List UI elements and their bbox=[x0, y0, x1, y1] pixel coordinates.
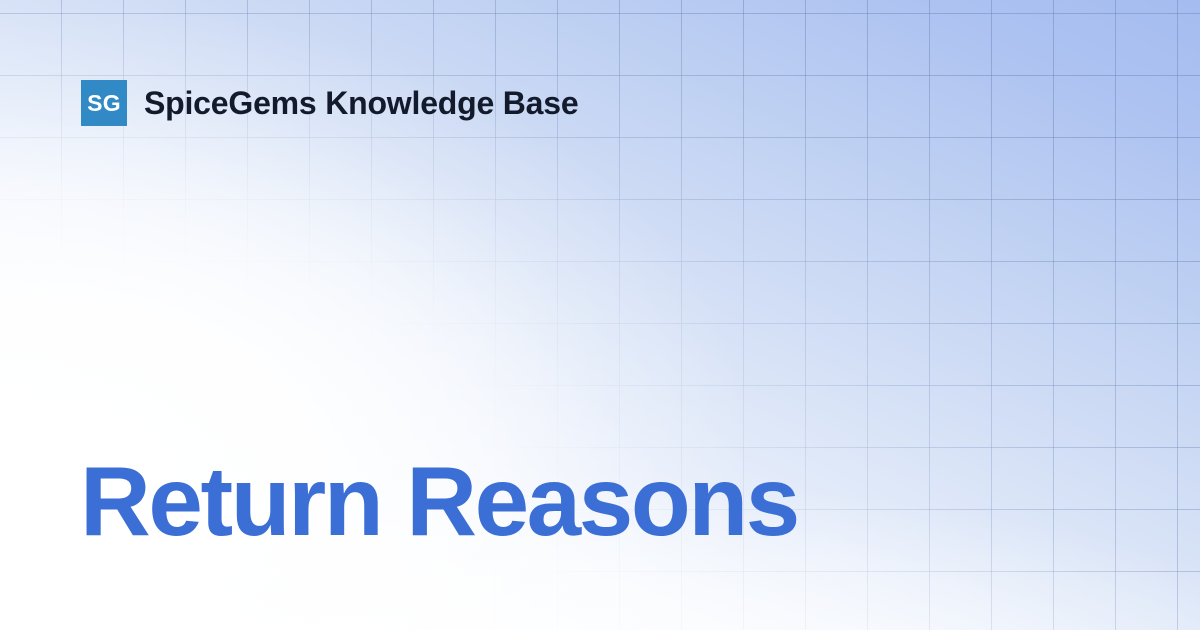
spicegems-logo-icon: SG bbox=[81, 80, 127, 126]
knowledge-base-banner: SG SpiceGems Knowledge Base Return Reaso… bbox=[0, 0, 1200, 630]
banner-content: SG SpiceGems Knowledge Base Return Reaso… bbox=[0, 0, 1200, 630]
brand-lockup: SG SpiceGems Knowledge Base bbox=[81, 80, 578, 126]
brand-name: SpiceGems Knowledge Base bbox=[144, 87, 578, 119]
page-title: Return Reasons bbox=[80, 452, 1120, 550]
